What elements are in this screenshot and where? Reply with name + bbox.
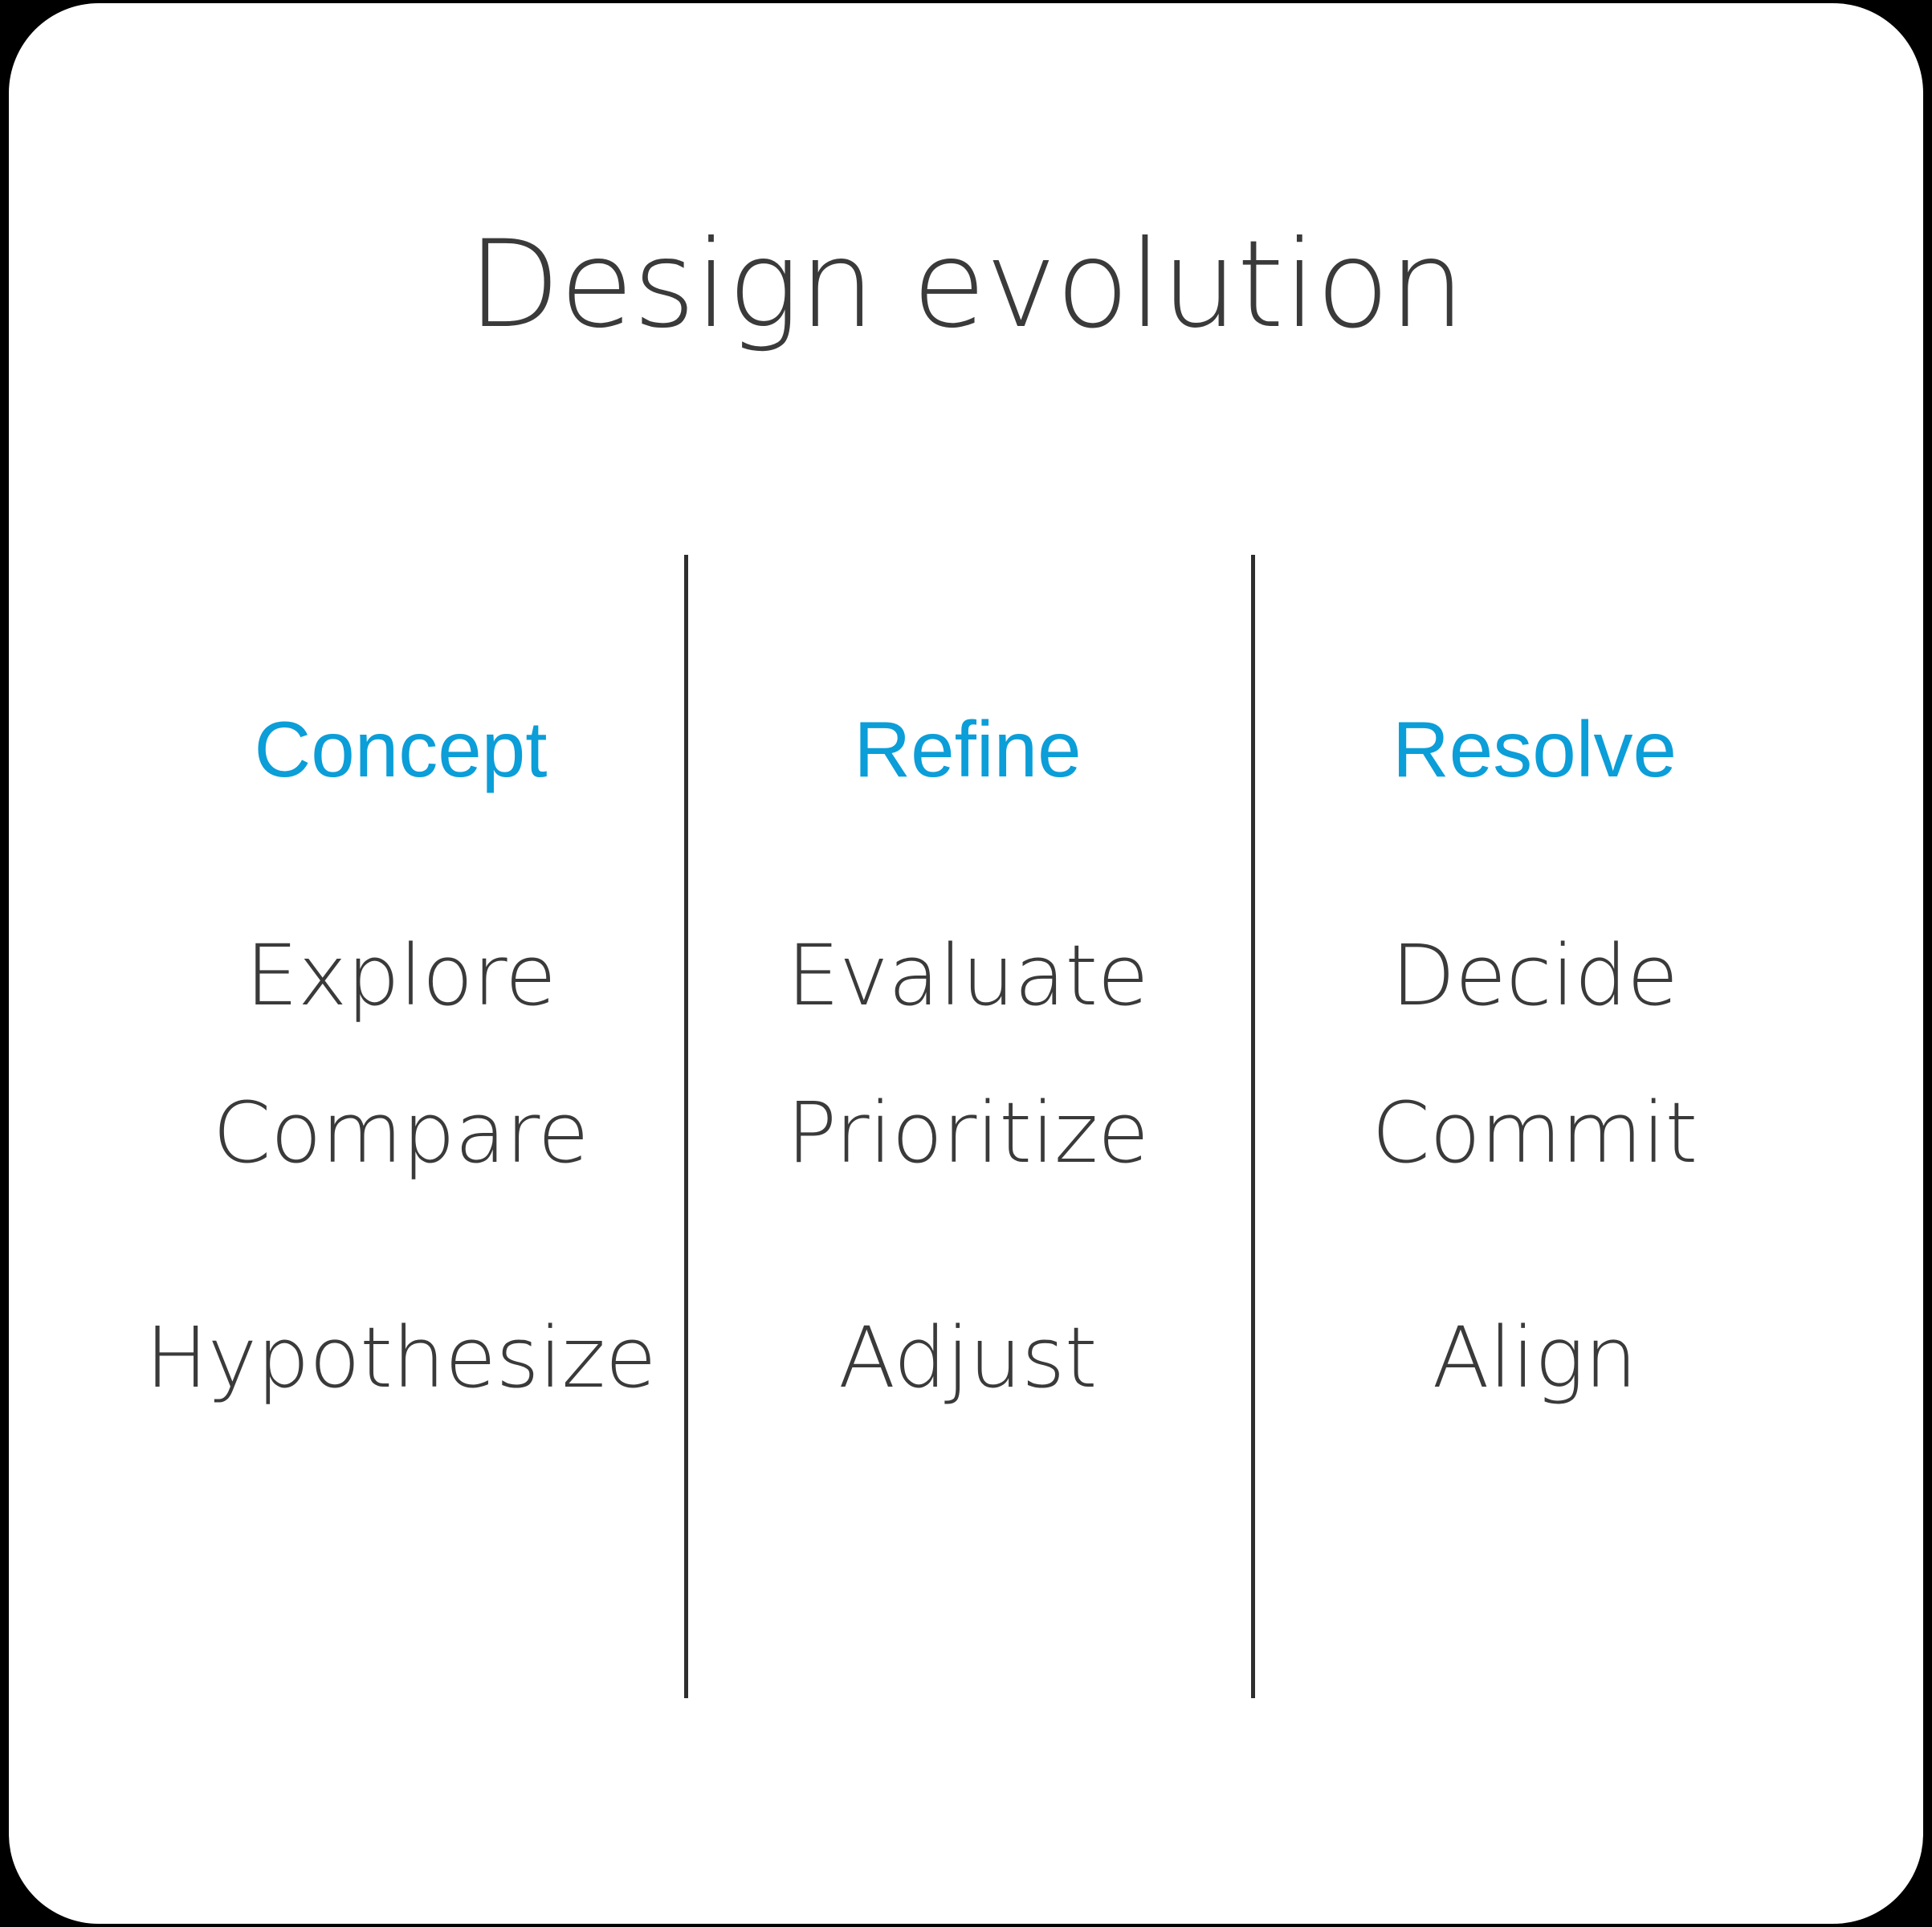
list-item: Hypothesize — [117, 1245, 684, 1470]
content-card: Design evolution Concept Explore Compare… — [9, 3, 1923, 1924]
column-header-refine: Refine — [684, 710, 1251, 793]
list-item: Evaluate — [684, 793, 1251, 1021]
list-item: Align — [1251, 1245, 1818, 1470]
list-item: Explore — [117, 793, 684, 1021]
list-item: Adjust — [684, 1245, 1251, 1470]
list-item: Prioritize — [684, 1021, 1251, 1245]
column-items-refine: Evaluate Prioritize Adjust — [684, 793, 1251, 1470]
columns-grid: Concept Explore Compare Hypothesize Refi… — [9, 3, 1923, 1924]
column-resolve: Resolve Decide Commit Align — [1251, 710, 1818, 1470]
list-item: Compare — [117, 1021, 684, 1245]
list-item: Commit — [1251, 1021, 1818, 1245]
column-header-concept: Concept — [117, 710, 684, 793]
column-concept: Concept Explore Compare Hypothesize — [117, 710, 684, 1470]
column-header-resolve: Resolve — [1251, 710, 1818, 793]
list-item: Decide — [1251, 793, 1818, 1021]
column-items-resolve: Decide Commit Align — [1251, 793, 1818, 1470]
column-items-concept: Explore Compare Hypothesize — [117, 793, 684, 1470]
column-refine: Refine Evaluate Prioritize Adjust — [684, 710, 1251, 1470]
